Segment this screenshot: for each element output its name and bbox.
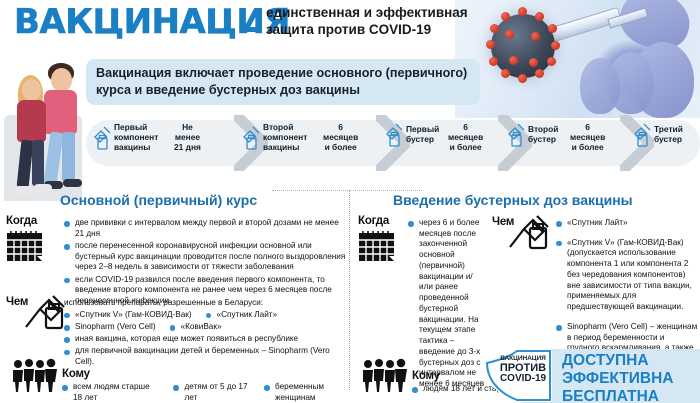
list-item: «Спутник Лайт» bbox=[556, 218, 698, 229]
left-when-label: Когда bbox=[6, 215, 58, 227]
list-item: через 6 и более месяцев после законченно… bbox=[408, 218, 486, 390]
timeline-step-4: 6 месяцев и более bbox=[323, 123, 358, 152]
list-item: «Спутник V» (Гам-КОВИД-Вак) (допускается… bbox=[556, 238, 698, 313]
title-dash bbox=[243, 27, 260, 32]
calendar-icon bbox=[6, 229, 44, 262]
timeline-step-label: Второй бустер bbox=[528, 125, 558, 145]
syringe-vial-icon bbox=[241, 126, 260, 150]
family-group-icon bbox=[360, 358, 408, 392]
man-shoe-right bbox=[63, 179, 82, 187]
virus-particle-icon bbox=[491, 14, 555, 78]
list-item: «Спутник V» (Гам-КОВИД-Вак) bbox=[64, 310, 192, 321]
list-item: Sinopharm (Vero Cell) bbox=[64, 322, 156, 333]
timeline-gap-label: 6 месяцев и более bbox=[570, 123, 605, 152]
man-leg-right bbox=[62, 132, 75, 182]
syringe-vial-icon bbox=[92, 126, 111, 150]
list-item: беременным женщинам bbox=[264, 382, 352, 403]
woman-shoe-right bbox=[34, 184, 52, 192]
list-item: для первичной вакцинации детей и беремен… bbox=[64, 346, 346, 367]
timeline-gap-label: 6 месяцев и более bbox=[323, 123, 358, 152]
timeline-step-3: Второй компонент вакцины bbox=[241, 123, 307, 152]
family-group-icon bbox=[10, 358, 58, 392]
shield-text: ВАКЦИНАЦИЯ ПРОТИВ COVID-19 bbox=[492, 356, 554, 385]
syringe-vial-icon bbox=[506, 214, 552, 250]
vaccination-timeline: Первый компонент вакцины Не менее 21 дня… bbox=[86, 112, 700, 172]
badge-line-3: БЕСПЛАТНА bbox=[562, 388, 700, 403]
list-item: две прививки с интервалом между первой и… bbox=[64, 218, 346, 239]
left-whom-group: Кому всем людям старше 18 лет детям от 5… bbox=[62, 368, 352, 403]
badge-slogan: ДОСТУПНА ЭФФЕКТИВНА БЕСПЛАТНА bbox=[562, 352, 700, 403]
section-title-primary-course: Основной (первичный) курс bbox=[60, 192, 257, 208]
page-title: ВАКЦИНАЦИЯ bbox=[14, 2, 290, 42]
left-with-intro: использовать препараты, разрешенные в Бе… bbox=[64, 298, 346, 309]
woman-torso bbox=[17, 100, 46, 142]
section-rule bbox=[272, 190, 422, 191]
timeline-step-8: 6 месяцев и более bbox=[570, 123, 605, 152]
man-torso bbox=[44, 90, 77, 134]
section-title-booster-doses: Введение бустерных доз вакцины bbox=[393, 192, 633, 208]
timeline-step-label: Второй компонент вакцины bbox=[263, 123, 307, 152]
header-subtitle: единственная и эффективная защита против… bbox=[266, 4, 491, 38]
timeline-step-6: 6 месяцев и более bbox=[448, 123, 483, 152]
list-item: всем людям старше 18 лет bbox=[62, 382, 159, 403]
timeline-step-9: Третий бустер bbox=[632, 123, 683, 147]
left-whom-list: всем людям старше 18 лет детям от 5 до 1… bbox=[62, 382, 352, 403]
timeline-step-5: Первый бустер bbox=[384, 123, 439, 147]
syringe-vial-icon bbox=[632, 123, 651, 147]
woman-shoe-left bbox=[15, 186, 33, 194]
gloved-finger-3 bbox=[580, 58, 620, 114]
syringe-vial-icon bbox=[22, 294, 68, 330]
right-when-list: через 6 и более месяцев после законченно… bbox=[408, 218, 486, 391]
timeline-step-label: Первый компонент вакцины bbox=[114, 123, 158, 152]
timeline-gap-label: 6 месяцев и более bbox=[448, 123, 483, 152]
timeline-step-7: Второй бустер bbox=[506, 123, 558, 147]
right-when-label: Когда bbox=[358, 215, 410, 227]
list-item: иная вакцина, которая еще может появитьс… bbox=[64, 334, 346, 345]
woman-leg-right bbox=[32, 140, 44, 186]
list-item: «КовиВак» bbox=[170, 322, 222, 333]
syringe-vial-icon bbox=[384, 123, 403, 147]
left-with-row-1: «Спутник V» (Гам-КОВИД-Вак) «Спутник Лай… bbox=[64, 310, 346, 322]
column-divider bbox=[349, 190, 350, 390]
list-item: после перенесенной коронавирусной инфекц… bbox=[64, 241, 346, 273]
woman-head bbox=[22, 79, 41, 101]
intro-card: Вакцинация включает проведение основного… bbox=[86, 59, 480, 105]
calendar-icon bbox=[358, 229, 396, 262]
left-when-list: две прививки с интервалом между первой и… bbox=[64, 218, 346, 308]
infographic-page: ВАКЦИНАЦИЯ единственная и эффективная за… bbox=[0, 0, 700, 403]
intro-text: Вакцинация включает проведение основного… bbox=[96, 65, 470, 98]
badge-line-1: ДОСТУПНА bbox=[562, 352, 700, 370]
badge-line-2: ЭФФЕКТИВНА bbox=[562, 370, 700, 388]
timeline-gap-label: Не менее 21 дня bbox=[174, 123, 201, 152]
timeline-step-label: Первый бустер bbox=[406, 125, 439, 145]
list-item: «Спутник Лайт» bbox=[206, 310, 278, 321]
timeline-step-label: Третий бустер bbox=[654, 125, 683, 145]
header: ВАКЦИНАЦИЯ единственная и эффективная за… bbox=[0, 0, 700, 55]
walking-couple-illustration bbox=[0, 55, 92, 203]
timeline-step-2: Не менее 21 дня bbox=[174, 123, 201, 152]
man-head bbox=[51, 68, 72, 92]
left-whom-label: Кому bbox=[62, 368, 352, 380]
left-with-row-2: Sinopharm (Vero Cell) «КовиВак» bbox=[64, 322, 346, 334]
syringe-vial-icon bbox=[506, 123, 525, 147]
coronavirus-syringe-photo bbox=[455, 0, 700, 118]
list-item: детям от 5 до 17 лет bbox=[173, 382, 250, 403]
left-with-group: использовать препараты, разрешенные в Бе… bbox=[64, 298, 346, 369]
shield-line-3: COVID-19 bbox=[492, 374, 554, 384]
timeline-step-1: Первый компонент вакцины bbox=[92, 123, 158, 152]
left-with-list: иная вакцина, которая еще может появитьс… bbox=[64, 334, 346, 368]
right-when-label-group: Когда bbox=[358, 215, 410, 267]
left-when-label-group: Когда bbox=[6, 215, 58, 267]
